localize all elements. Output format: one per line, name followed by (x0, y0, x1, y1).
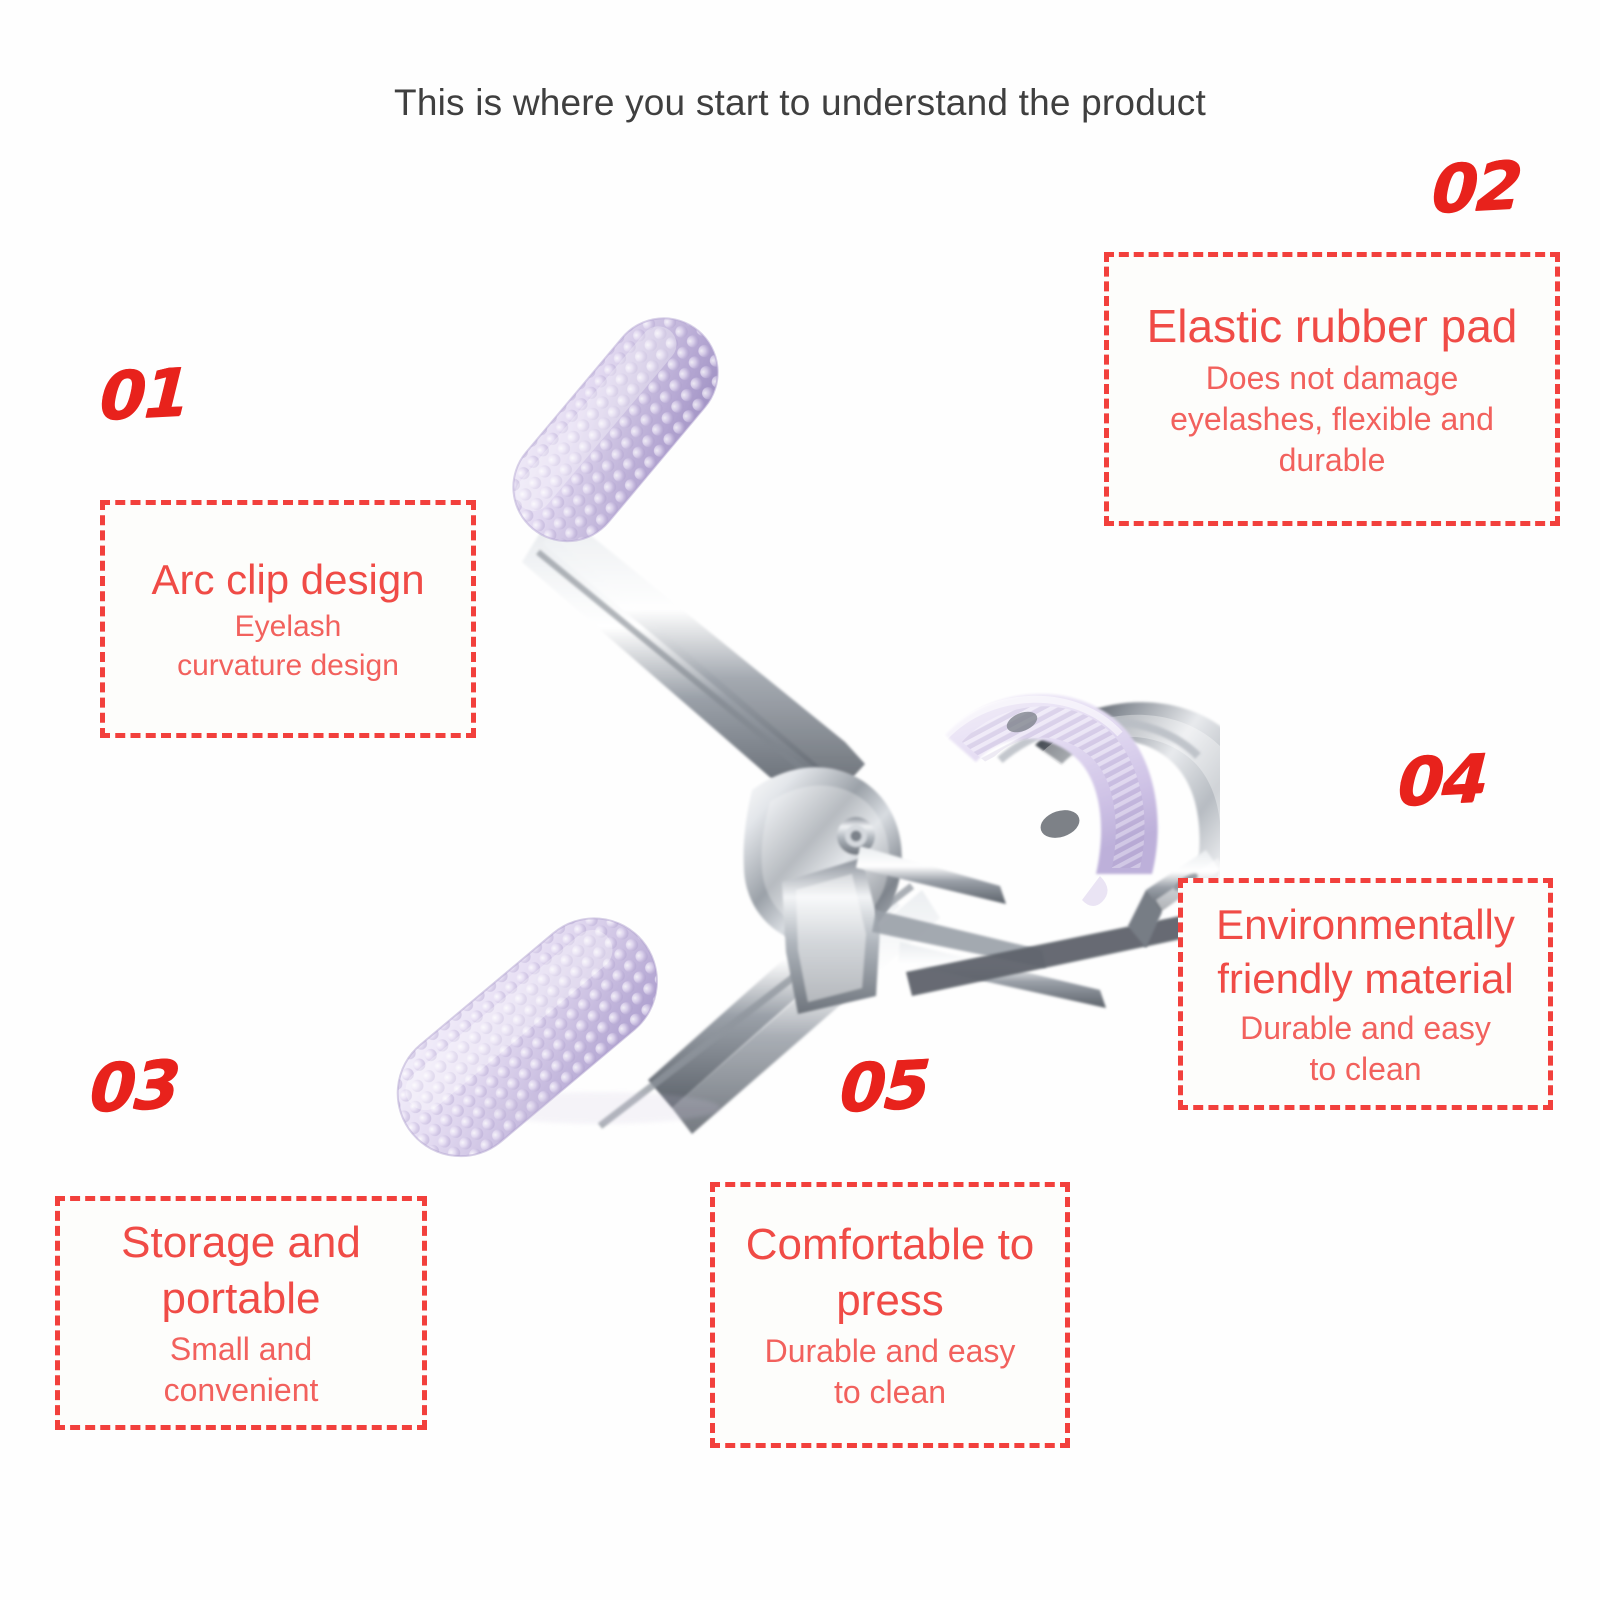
feature-subtitle-02-line-1: Does not damage (1170, 358, 1494, 399)
feature-box-04[interactable]: Environmentally friendly material Durabl… (1178, 878, 1553, 1110)
feature-subtitle-03-line-2: convenient (164, 1370, 319, 1411)
feature-box-05[interactable]: Comfortable to press Durable and easy to… (710, 1182, 1070, 1448)
feature-subtitle-02: Does not damage eyelashes, flexible and … (1164, 358, 1500, 481)
feature-heading-03: Storage and portable (60, 1215, 422, 1328)
feature-number-01: 01 (98, 360, 190, 431)
feature-subtitle-04: Durable and easy to clean (1234, 1008, 1497, 1090)
feature-box-01[interactable]: Arc clip design Eyelash curvature design (100, 500, 476, 738)
feature-heading-01: Arc clip design (145, 553, 430, 607)
feature-subtitle-01-line-1: Eyelash (177, 608, 399, 646)
feature-number-02: 02 (1430, 153, 1522, 224)
feature-heading-02: Elastic rubber pad (1141, 297, 1524, 356)
feature-subtitle-04-line-1: Durable and easy (1240, 1008, 1491, 1049)
feature-subtitle-05-line-2: to clean (765, 1372, 1016, 1413)
feature-subtitle-02-line-2: eyelashes, flexible and (1170, 399, 1494, 440)
feature-subtitle-03-line-1: Small and (164, 1329, 319, 1370)
page-title: This is where you start to understand th… (0, 82, 1600, 124)
feature-number-04: 04 (1396, 746, 1488, 817)
feature-subtitle-04-line-2: to clean (1240, 1049, 1491, 1090)
feature-subtitle-01-line-2: curvature design (177, 647, 399, 685)
feature-heading-04: Environmentally friendly material (1183, 898, 1548, 1006)
feature-number-03: 03 (88, 1052, 180, 1123)
feature-box-03[interactable]: Storage and portable Small and convenien… (55, 1196, 427, 1430)
feature-subtitle-03: Small and convenient (158, 1329, 325, 1411)
feature-box-02[interactable]: Elastic rubber pad Does not damage eyela… (1104, 252, 1560, 526)
feature-subtitle-05: Durable and easy to clean (759, 1331, 1022, 1413)
feature-number-05: 05 (838, 1052, 930, 1123)
feature-subtitle-02-line-3: durable (1170, 440, 1494, 481)
feature-heading-05: Comfortable to press (715, 1217, 1065, 1330)
feature-subtitle-01: Eyelash curvature design (171, 608, 405, 685)
feature-subtitle-05-line-1: Durable and easy (765, 1331, 1016, 1372)
